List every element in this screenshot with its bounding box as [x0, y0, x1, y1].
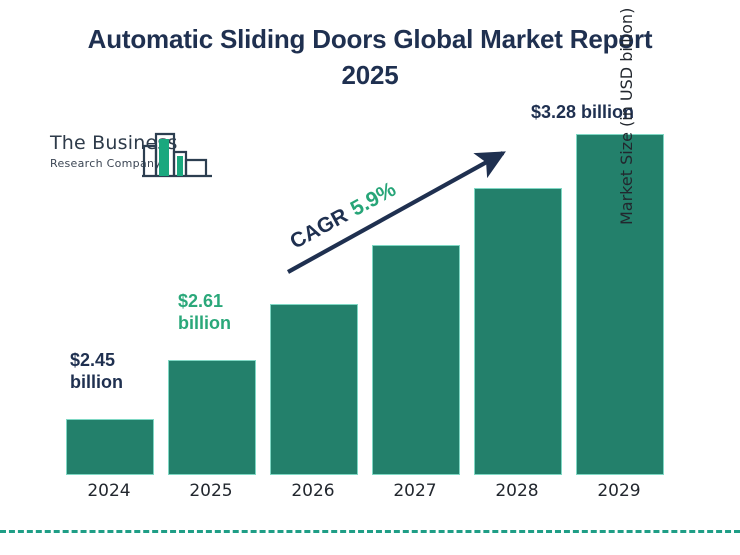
cagr-label: CAGR	[286, 204, 351, 254]
value-label-2025-line2: billion	[178, 313, 231, 335]
xtick-2028: 2028	[474, 481, 560, 501]
cagr-annotation: CAGR5.9%	[286, 178, 400, 255]
cagr-value: 5.9%	[347, 178, 400, 221]
plot-area: 2024 2025 2026 2027 2028 2029 $2.45 bill…	[0, 0, 740, 555]
bar-2024	[66, 419, 154, 475]
value-label-2024-line1: $2.45	[70, 350, 123, 372]
xtick-2025: 2025	[168, 481, 254, 501]
bar-2026	[270, 304, 358, 475]
y-axis-title: Market Size (in USD billion)	[617, 0, 636, 225]
bar-2027	[372, 245, 460, 475]
footer-divider	[0, 530, 740, 533]
value-label-2024-line2: billion	[70, 372, 123, 394]
chart-canvas: Automatic Sliding Doors Global Market Re…	[0, 0, 740, 555]
bar-2028	[474, 188, 562, 475]
value-label-2025: $2.61 billion	[178, 291, 231, 335]
xtick-2027: 2027	[372, 481, 458, 501]
bar-2025	[168, 360, 256, 475]
xtick-2026: 2026	[270, 481, 356, 501]
value-label-2024: $2.45 billion	[70, 350, 123, 394]
value-label-2025-line1: $2.61	[178, 291, 231, 313]
xtick-2029: 2029	[576, 481, 662, 501]
xtick-2024: 2024	[66, 481, 152, 501]
